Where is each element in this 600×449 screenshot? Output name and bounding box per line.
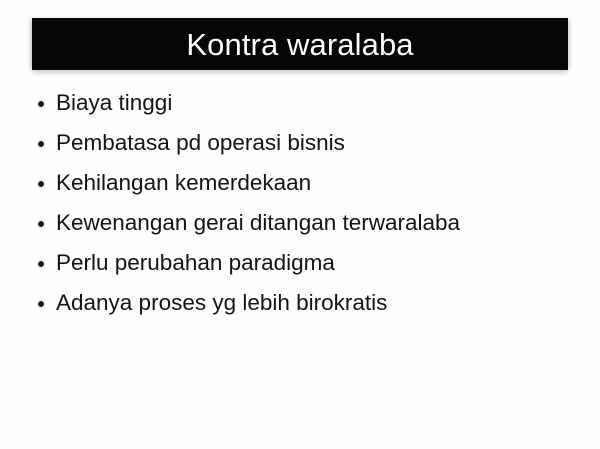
bullet-dot-icon — [38, 141, 44, 147]
bullet-dot-icon — [38, 301, 44, 307]
bullet-list: Biaya tinggi Pembatasa pd operasi bisnis… — [34, 88, 574, 328]
bullet-dot-icon — [38, 261, 44, 267]
bullet-dot-icon — [38, 101, 44, 107]
slide-canvas: Kontra waralaba Biaya tinggi Pembatasa p… — [0, 0, 600, 449]
list-item: Pembatasa pd operasi bisnis — [34, 128, 574, 168]
list-item: Perlu perubahan paradigma — [34, 248, 574, 288]
bullet-dot-icon — [38, 221, 44, 227]
list-item: Kewenangan gerai ditangan terwaralaba — [34, 208, 574, 248]
list-item: Kehilangan kemerdekaan — [34, 168, 574, 208]
list-item-label: Pembatasa pd operasi bisnis — [56, 128, 345, 158]
list-item: Adanya proses yg lebih birokratis — [34, 288, 574, 328]
slide-title-bar: Kontra waralaba — [32, 18, 568, 70]
list-item: Biaya tinggi — [34, 88, 574, 128]
bullet-dot-icon — [38, 181, 44, 187]
list-item-label: Kewenangan gerai ditangan terwaralaba — [56, 208, 460, 238]
page-title: Kontra waralaba — [186, 29, 413, 60]
list-item-label: Biaya tinggi — [56, 88, 172, 118]
list-item-label: Adanya proses yg lebih birokratis — [56, 288, 387, 318]
list-item-label: Kehilangan kemerdekaan — [56, 168, 311, 198]
list-item-label: Perlu perubahan paradigma — [56, 248, 335, 278]
